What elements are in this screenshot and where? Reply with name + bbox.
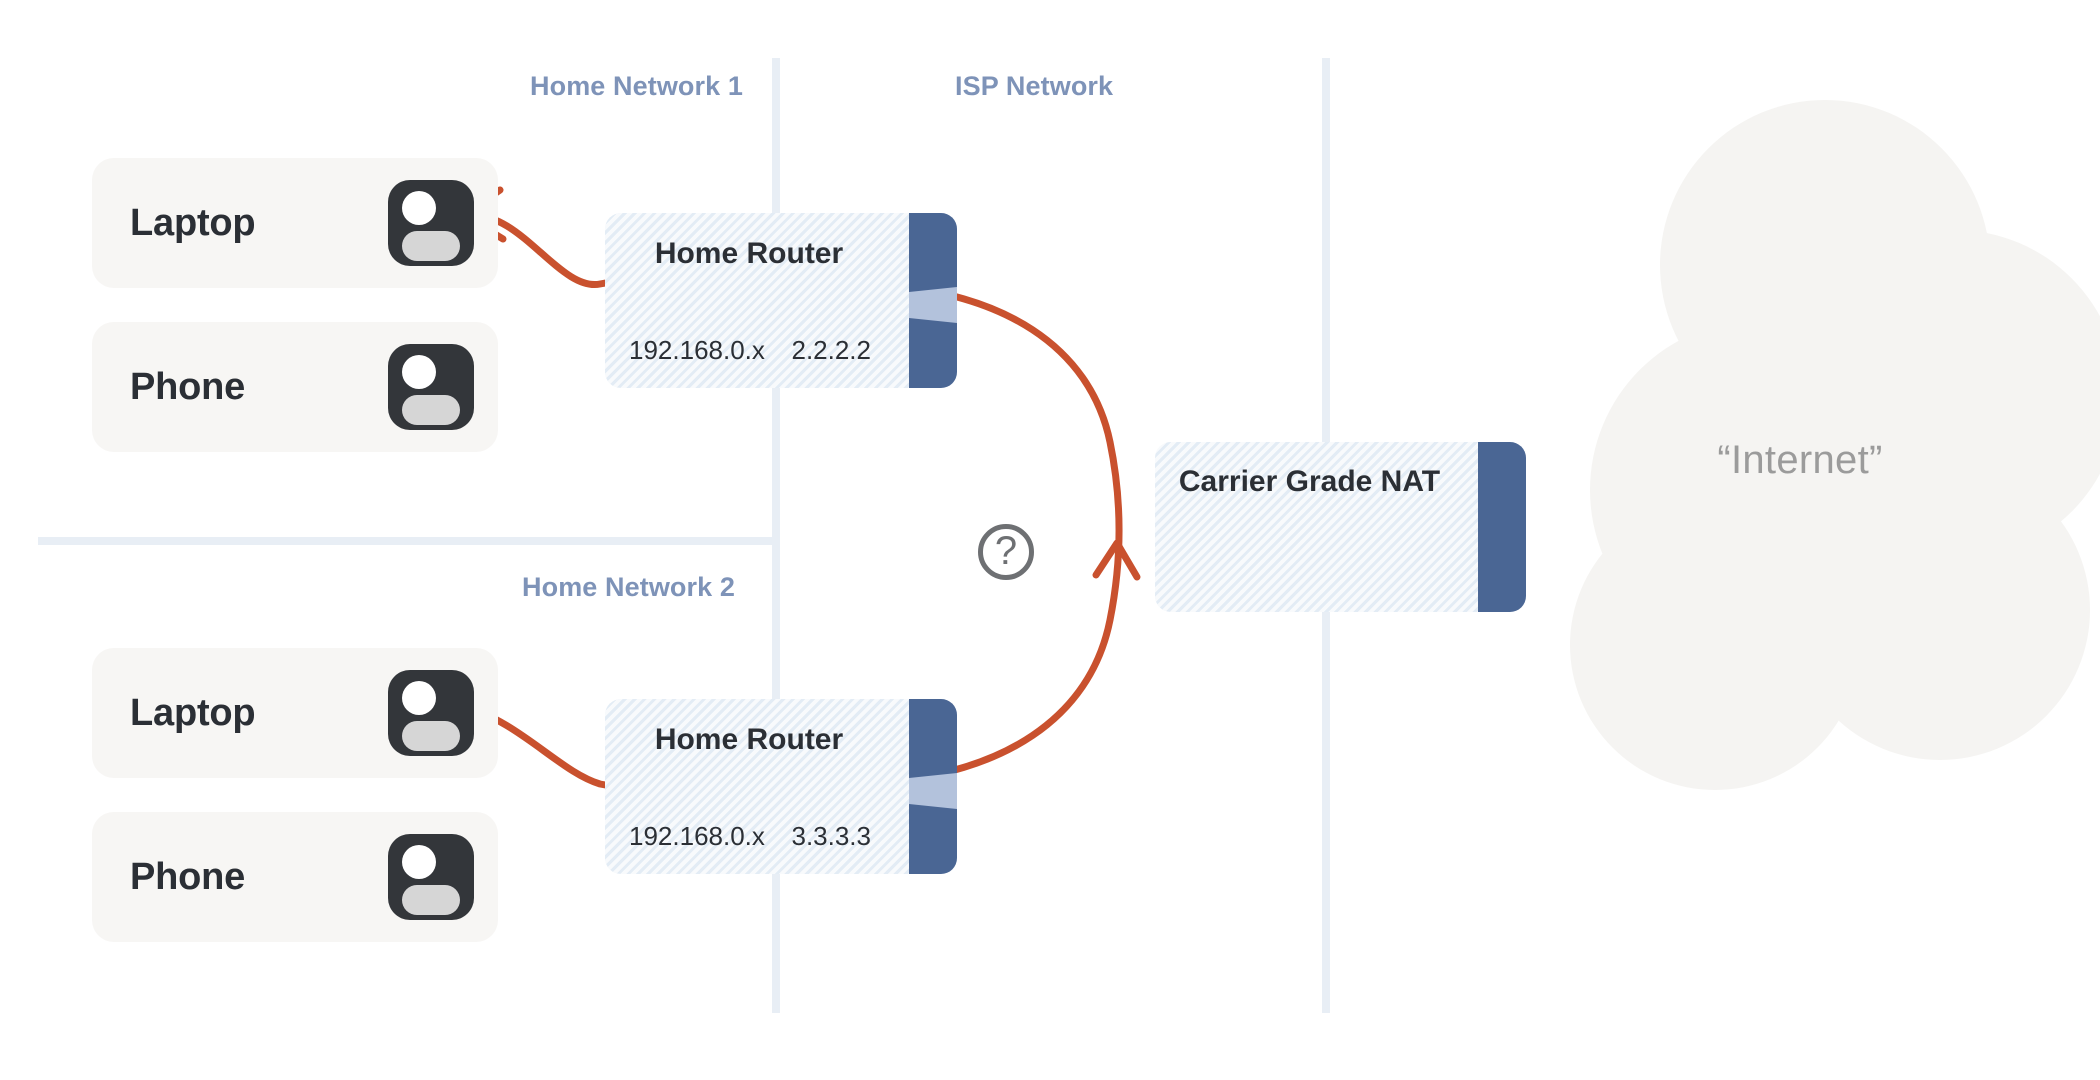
router-port-notch	[909, 287, 957, 323]
zone-label-isp-network: ISP Network	[955, 71, 1113, 102]
avatar-body-shape	[402, 721, 460, 751]
avatar-body-shape	[402, 885, 460, 915]
zone-label-home-network-2: Home Network 2	[522, 572, 735, 603]
internet-cloud-label: “Internet”	[1570, 438, 2030, 483]
cloud-puff	[1570, 500, 1860, 790]
device-label: Phone	[130, 856, 245, 899]
user-device-icon	[388, 344, 474, 430]
internet-cloud: “Internet”	[1570, 180, 2090, 780]
device-card-laptop-1[interactable]: Laptop	[92, 158, 498, 288]
content-layer: Home Network 1 ISP Network Home Network …	[0, 0, 2100, 1080]
avatar-head-shape	[402, 191, 436, 225]
router-lan-ip: 192.168.0.x	[629, 335, 765, 366]
network-box-home-router-1[interactable]: Home Router 192.168.0.x 2.2.2.2	[605, 213, 957, 388]
user-device-icon	[388, 180, 474, 266]
device-card-laptop-2[interactable]: Laptop	[92, 648, 498, 778]
device-label: Laptop	[130, 202, 255, 245]
device-card-phone-2[interactable]: Phone	[92, 812, 498, 942]
network-box-title: Home Router	[605, 237, 893, 271]
question-mark-glyph: ?	[995, 531, 1017, 571]
device-label: Phone	[130, 366, 245, 409]
user-device-icon	[388, 834, 474, 920]
device-label: Laptop	[130, 692, 255, 735]
avatar-body-shape	[402, 395, 460, 425]
router-wan-ip: 3.3.3.3	[791, 821, 871, 852]
avatar-head-shape	[402, 845, 436, 879]
network-box-carrier-grade-nat[interactable]: Carrier Grade NAT	[1155, 442, 1526, 612]
network-box-home-router-2[interactable]: Home Router 192.168.0.x 3.3.3.3	[605, 699, 957, 874]
network-box-title: Carrier Grade NAT	[1155, 465, 1464, 499]
zone-label-home-network-1: Home Network 1	[530, 71, 743, 102]
router-lan-ip: 192.168.0.x	[629, 821, 765, 852]
avatar-head-shape	[402, 355, 436, 389]
avatar-body-shape	[402, 231, 460, 261]
cgnat-port-bar	[1478, 442, 1526, 612]
network-box-title: Home Router	[605, 723, 893, 757]
avatar-head-shape	[402, 681, 436, 715]
device-card-phone-1[interactable]: Phone	[92, 322, 498, 452]
router-port-notch	[909, 773, 957, 809]
router-wan-ip: 2.2.2.2	[791, 335, 871, 366]
diagram-canvas: Home Network 1 ISP Network Home Network …	[0, 0, 2100, 1080]
question-mark-badge-icon: ?	[978, 524, 1034, 580]
user-device-icon	[388, 670, 474, 756]
